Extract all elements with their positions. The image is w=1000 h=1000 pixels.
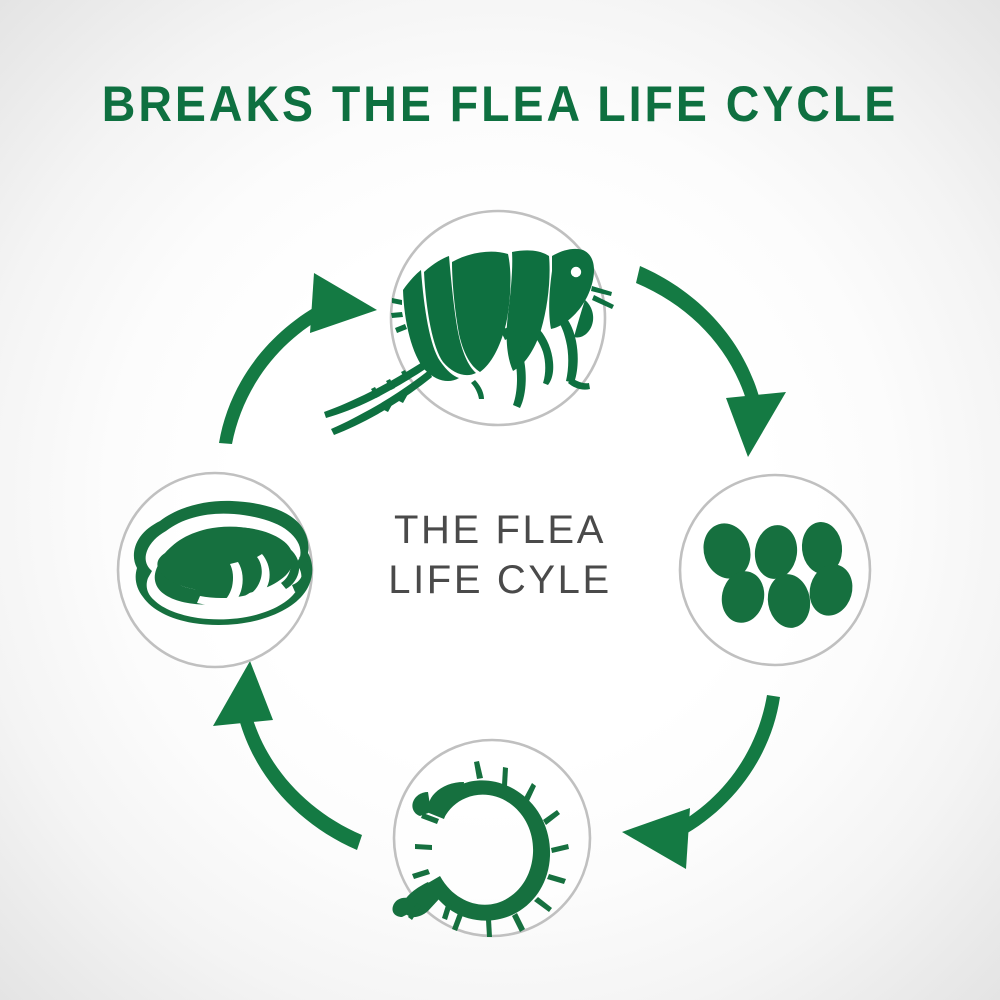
stage-flea-pupa[interactable] (118, 473, 312, 667)
arrow-adult-to-eggs (636, 266, 786, 457)
center-label: THE FLEA LIFE CYLE (330, 505, 670, 605)
stage-flea-eggs[interactable] (680, 475, 870, 665)
cycle-diagram (0, 0, 1000, 1000)
flea-life-cycle-infographic: BREAKS THE FLEA LIFE CYCLE (0, 0, 1000, 1000)
arrow-eggs-to-larva (622, 695, 780, 869)
stage-adult-flea[interactable] (324, 211, 614, 435)
stage-flea-larva[interactable] (392, 740, 590, 937)
arrow-larva-to-pupa (213, 661, 362, 850)
